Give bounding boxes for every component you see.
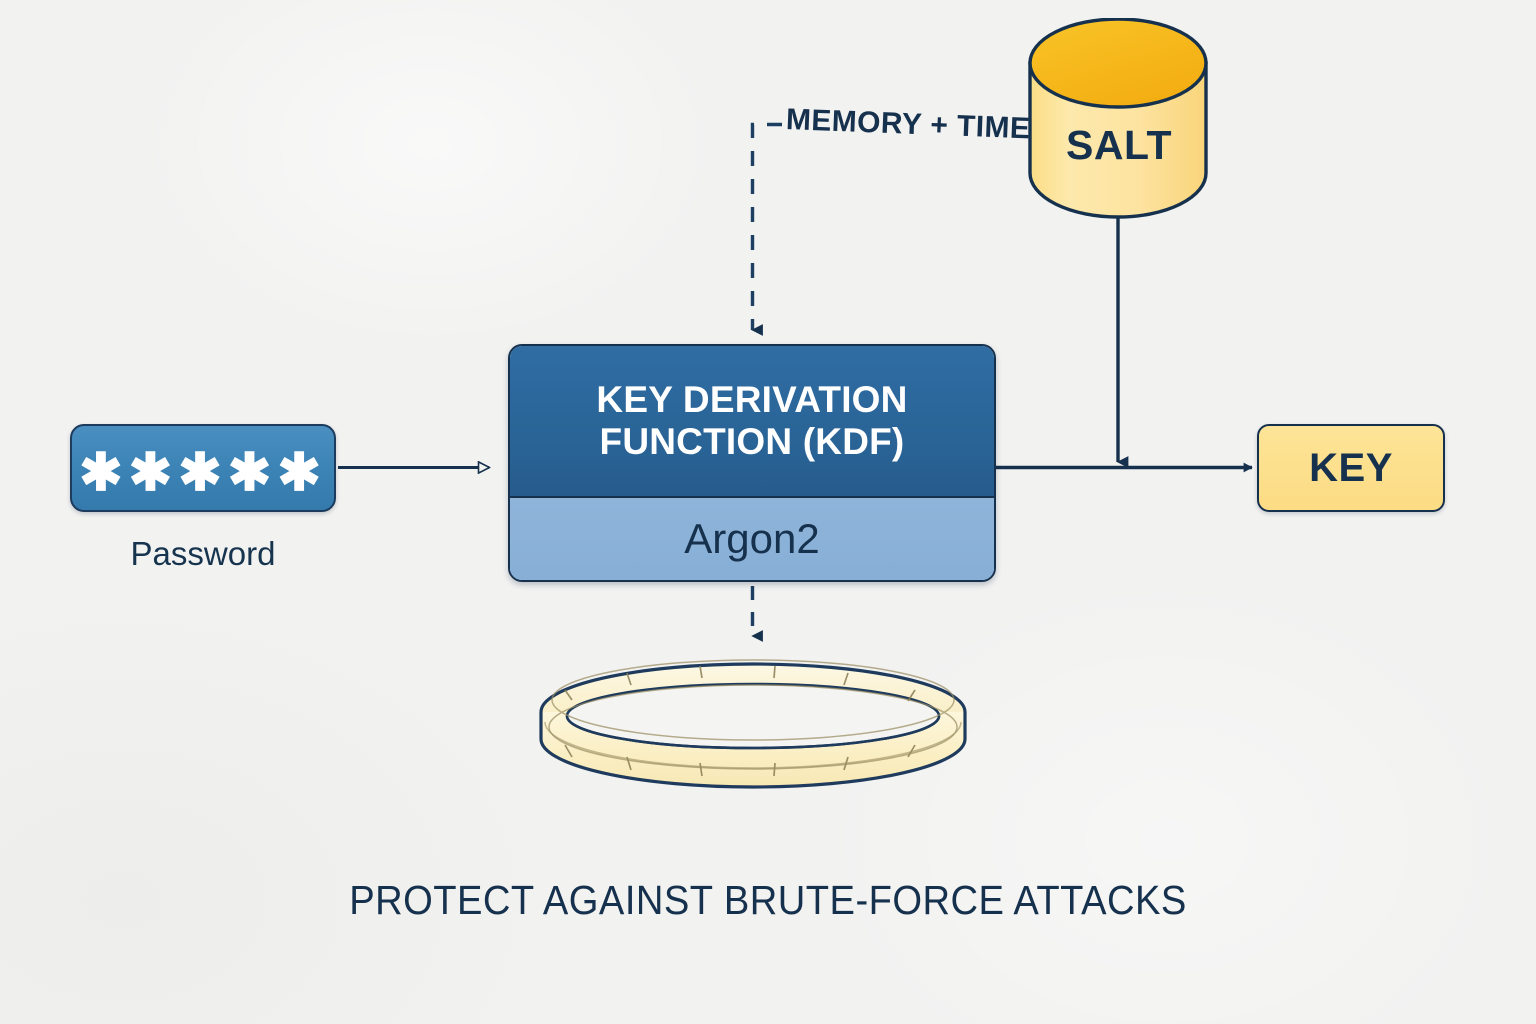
kdf-title: KEY DERIVATION FUNCTION (KDF) <box>520 379 984 463</box>
kdf-title-section: KEY DERIVATION FUNCTION (KDF) <box>510 346 994 496</box>
diagram-canvas: ✱✱✱✱✱ Password KEY DERIVATION FUNCTION (… <box>0 0 1536 1024</box>
kdf-algorithm-section: Argon2 <box>510 496 994 580</box>
password-masked-value: ✱✱✱✱✱ <box>79 447 327 499</box>
key-node[interactable]: KEY <box>1257 424 1445 512</box>
salt-label: SALT <box>1028 122 1210 169</box>
edge-memory-time-to-kdf <box>753 125 783 331</box>
kdf-algorithm-label: Argon2 <box>684 515 819 563</box>
diagram-caption: PROTECT AGAINST BRUTE-FORCE ATTACKS <box>54 877 1482 924</box>
kdf-node[interactable]: KEY DERIVATION FUNCTION (KDF) Argon2 <box>508 344 996 582</box>
memory-ring-icon <box>541 660 965 787</box>
password-input-box[interactable]: ✱✱✱✱✱ <box>70 424 336 512</box>
key-label: KEY <box>1309 446 1393 491</box>
password-label: Password <box>70 535 336 573</box>
salt-cylinder-shape <box>1030 19 1206 217</box>
